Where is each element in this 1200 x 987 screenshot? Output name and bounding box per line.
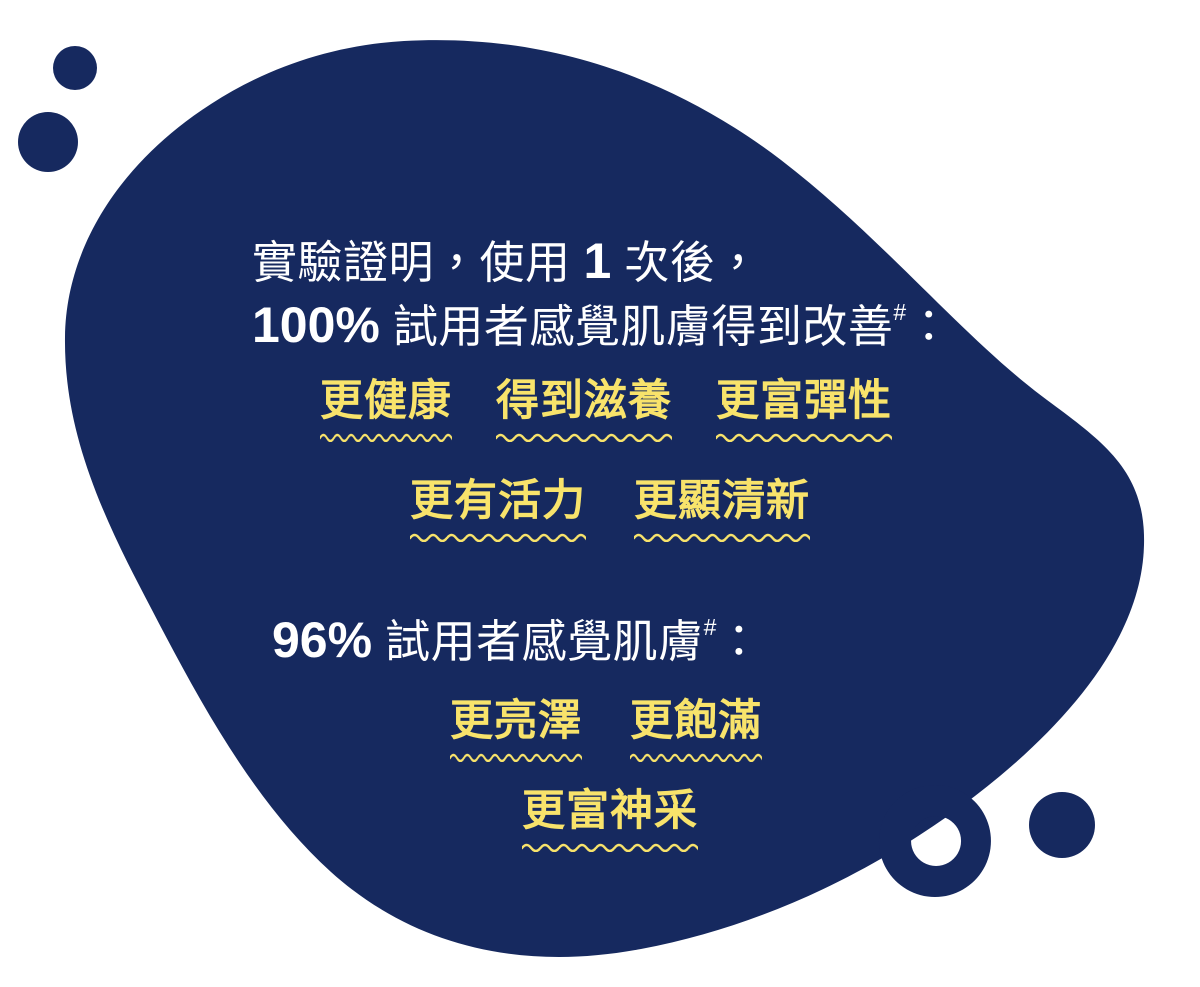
wavy-underline-icon xyxy=(716,430,892,442)
section-two-headline: 96% 試用者感覺肌膚#： xyxy=(272,607,762,673)
benefit-row-2: 更有活力 更顯清新 xyxy=(0,478,1200,542)
headline-claim-text-1: 試用者感覺肌膚得到改善 xyxy=(380,301,894,352)
headline-colon-1: ： xyxy=(906,301,952,352)
footnote-marker-hash-1: # xyxy=(893,299,906,325)
headline-percent-96: 96% xyxy=(272,612,372,668)
headline-claim-text-2: 試用者感覺肌膚 xyxy=(372,616,704,667)
wavy-underline-icon xyxy=(320,430,452,442)
headline-suffix-text: 次後， xyxy=(611,237,761,288)
benefit-label: 更富彈性 xyxy=(716,378,892,424)
wavy-underline-icon xyxy=(450,750,582,762)
wavy-underline-icon xyxy=(630,750,762,762)
benefit-item-plumper: 更飽滿 xyxy=(630,698,762,762)
headline-prefix-text: 實驗證明，使用 xyxy=(252,237,584,288)
section-one-headline-line-2: 100% 試用者感覺肌膚得到改善#： xyxy=(252,292,952,358)
wavy-underline-icon xyxy=(410,530,586,542)
benefit-label: 更飽滿 xyxy=(630,698,762,744)
benefit-row-1: 更健康 得到滋養 xyxy=(0,378,1200,442)
benefit-label: 得到滋養 xyxy=(496,378,672,424)
benefit-row-3: 更亮澤 更飽滿 xyxy=(0,698,1200,762)
benefit-label: 更健康 xyxy=(320,378,452,424)
section-one-headline-line-1: 實驗證明，使用 1 次後， xyxy=(252,228,761,294)
dot-top-left-small xyxy=(53,46,97,90)
benefit-item-more-radiant: 更富神采 xyxy=(522,788,698,852)
benefit-item-more-vital: 更有活力 xyxy=(410,478,586,542)
benefit-label: 更有活力 xyxy=(410,478,586,524)
benefit-row-4: 更富神采 xyxy=(0,788,1200,852)
wavy-underline-icon xyxy=(496,430,672,442)
headline-colon-2: ： xyxy=(716,616,762,667)
infographic-canvas: 實驗證明，使用 1 次後， 100% 試用者感覺肌膚得到改善#： 更健康 得到滋… xyxy=(0,0,1200,987)
benefit-label: 更富神采 xyxy=(522,788,698,834)
dot-top-left-large xyxy=(18,112,78,172)
benefit-item-healthier: 更健康 xyxy=(320,378,452,442)
wavy-underline-icon xyxy=(522,840,698,852)
benefit-item-more-elastic: 更富彈性 xyxy=(716,378,892,442)
benefit-label: 更亮澤 xyxy=(450,698,582,744)
headline-percent-100: 100% xyxy=(252,297,380,353)
headline-number-1: 1 xyxy=(584,233,612,289)
wavy-underline-icon xyxy=(634,530,810,542)
benefit-item-brighter: 更亮澤 xyxy=(450,698,582,762)
benefit-item-nourished: 得到滋養 xyxy=(496,378,672,442)
benefit-item-fresher: 更顯清新 xyxy=(634,478,810,542)
benefit-label: 更顯清新 xyxy=(634,478,810,524)
footnote-marker-hash-2: # xyxy=(704,614,717,640)
